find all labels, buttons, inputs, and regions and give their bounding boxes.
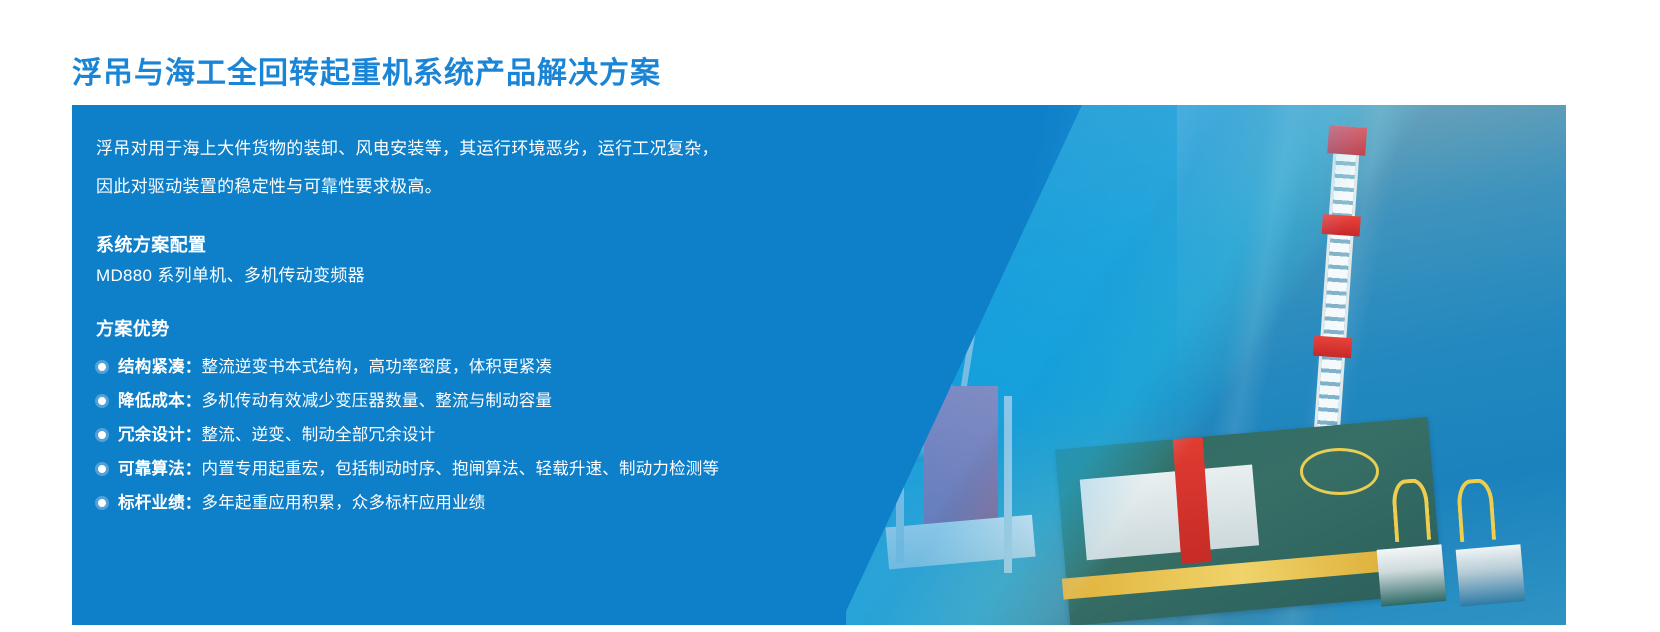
list-item-label: 结构紧凑：: [118, 358, 202, 376]
list-item: 标杆业绩：多年起重应用积累，众多标杆应用业绩: [96, 486, 972, 520]
list-item-desc: 多年起重应用积累，众多标杆应用业绩: [202, 494, 486, 512]
bullet-dot-icon: [98, 397, 106, 405]
list-item-desc: 整流逆变书本式结构，高功率密度，体积更紧凑: [202, 358, 553, 376]
bullet-dot-icon: [98, 465, 106, 473]
intro-paragraph: 浮吊对用于海上大件货物的装卸、风电安装等，其运行环境恶劣，运行工况复杂， 因此对…: [96, 130, 972, 206]
list-item: 冗余设计：整流、逆变、制动全部冗余设计: [96, 418, 972, 452]
list-item: 结构紧凑：整流逆变书本式结构，高功率密度，体积更紧凑: [96, 350, 972, 384]
list-item-label: 可靠算法：: [118, 460, 202, 478]
advantages-heading: 方案优势: [96, 314, 972, 344]
advantages-block: 方案优势 结构紧凑：整流逆变书本式结构，高功率密度，体积更紧凑 降低成本：多机传…: [96, 314, 972, 520]
list-item-label: 降低成本：: [118, 392, 202, 410]
intro-line-1: 浮吊对用于海上大件货物的装卸、风电安装等，其运行环境恶劣，运行工况复杂，: [96, 130, 972, 168]
list-item-label: 冗余设计：: [118, 426, 202, 444]
bullet-dot-icon: [98, 499, 106, 507]
list-item-desc: 内置专用起重宏，包括制动时序、抱闸算法、轻载升速、制动力检测等: [202, 460, 720, 478]
config-text: MD880 系列单机、多机传动变频器: [96, 260, 972, 292]
card-content: 浮吊对用于海上大件货物的装卸、风电安装等，其运行环境恶劣，运行工况复杂， 因此对…: [72, 105, 972, 625]
bullet-dot-icon: [98, 363, 106, 371]
list-item-label: 标杆业绩：: [118, 494, 202, 512]
list-item: 降低成本：多机传动有效减少变压器数量、整流与制动容量: [96, 384, 972, 418]
list-item: 可靠算法：内置专用起重宏，包括制动时序、抱闸算法、轻载升速、制动力检测等: [96, 452, 972, 486]
page-title: 浮吊与海工全回转起重机系统产品解决方案: [72, 54, 661, 94]
config-block: 系统方案配置 MD880 系列单机、多机传动变频器: [96, 230, 972, 292]
list-item-desc: 整流、逆变、制动全部冗余设计: [202, 426, 436, 444]
config-heading: 系统方案配置: [96, 230, 972, 260]
solution-card: 浮吊对用于海上大件货物的装卸、风电安装等，其运行环境恶劣，运行工况复杂， 因此对…: [72, 105, 1566, 625]
solution-page: 浮吊与海工全回转起重机系统产品解决方案: [0, 0, 1660, 632]
intro-line-2: 因此对驱动装置的稳定性与可靠性要求极高。: [96, 168, 972, 206]
advantages-list: 结构紧凑：整流逆变书本式结构，高功率密度，体积更紧凑 降低成本：多机传动有效减少…: [96, 350, 972, 520]
bullet-dot-icon: [98, 431, 106, 439]
list-item-desc: 多机传动有效减少变压器数量、整流与制动容量: [202, 392, 553, 410]
